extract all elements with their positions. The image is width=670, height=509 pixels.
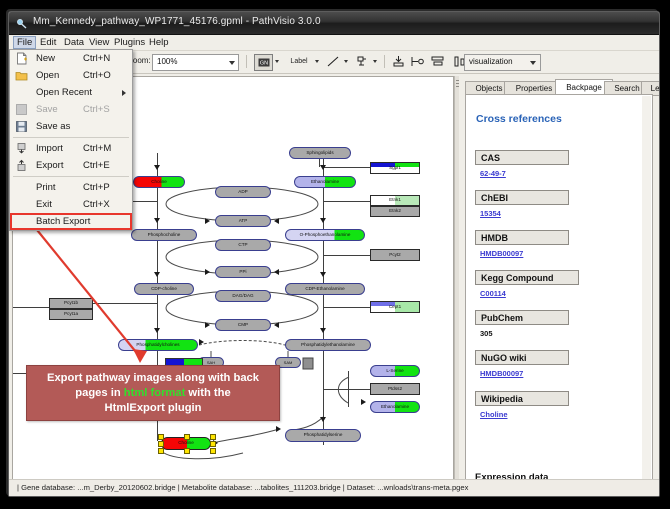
- menu-help[interactable]: Help: [145, 36, 173, 49]
- receptor-dropdown-icon[interactable]: [373, 60, 377, 63]
- file-dropdown-menu: New Ctrl+N Open Ctrl+O Open Recent Save …: [9, 49, 133, 231]
- xref-header-pubchem: PubChem: [475, 310, 569, 325]
- datanode-button[interactable]: GN: [254, 54, 273, 71]
- save-disk-icon: [15, 103, 28, 116]
- callout-line2-b: with the: [185, 387, 230, 399]
- window-title: Mm_Kennedy_pathway_WP1771_45176.gpml - P…: [33, 16, 321, 27]
- pathvisio-window: Mm_Kennedy_pathway_WP1771_45176.gpml - P…: [8, 11, 660, 497]
- menu-label: Save as: [36, 121, 70, 132]
- callout-line2-a: pages in: [75, 387, 124, 399]
- menu-label: Batch Export: [36, 216, 90, 227]
- resize-handle-e[interactable]: [210, 441, 216, 447]
- xref-value-kegg[interactable]: C00114: [480, 289, 506, 298]
- xref-value-chebi[interactable]: 15354: [480, 209, 501, 218]
- menu-item-print[interactable]: Print Ctrl+P: [10, 179, 132, 196]
- menu-accel: Ctrl+P: [83, 182, 110, 193]
- menu-item-open[interactable]: Open Ctrl+O: [10, 67, 132, 84]
- menu-accel: Ctrl+X: [83, 199, 110, 210]
- label-dropdown-icon[interactable]: [315, 60, 319, 63]
- xref-value-nugo[interactable]: HMDB00097: [480, 369, 523, 378]
- align-rows-button[interactable]: [430, 54, 445, 69]
- menu-item-save[interactable]: Save Ctrl+S: [10, 101, 132, 118]
- menu-label: Export: [36, 160, 63, 171]
- toolbar-separator-2: [384, 55, 385, 68]
- datanode-dropdown-icon[interactable]: [275, 60, 279, 63]
- backpage-vscrollbar[interactable]: [642, 96, 651, 490]
- resize-handle-n[interactable]: [184, 434, 190, 440]
- xref-value-pubchem: 305: [480, 329, 493, 338]
- menu-label: Open Recent: [36, 87, 92, 98]
- menu-accel: Ctrl+O: [83, 70, 111, 81]
- menu-divider-2: [13, 176, 129, 177]
- resize-handle-ne[interactable]: [210, 434, 216, 440]
- side-panel: Objects Properties Backpage Search Legen…: [459, 76, 656, 495]
- menu-item-new[interactable]: New Ctrl+N: [10, 50, 132, 67]
- callout-line1: Export pathway images along with back: [47, 372, 259, 384]
- xref-value-cas[interactable]: 62-49-7: [480, 169, 506, 178]
- menu-file[interactable]: File: [13, 36, 36, 49]
- xref-header-hmdb: HMDB: [475, 230, 569, 245]
- xref-header-cas: CAS: [475, 150, 569, 165]
- submenu-arrow-icon: [122, 90, 126, 96]
- xref-header-wikipedia: Wikipedia: [475, 391, 569, 406]
- menu-label: Open: [36, 70, 59, 81]
- status-text: | Gene database: ...m_Derby_20120602.bri…: [17, 483, 468, 492]
- align-left-button[interactable]: [409, 54, 425, 69]
- resize-handle-w[interactable]: [158, 441, 164, 447]
- toolbar-separator: [246, 55, 247, 68]
- pathvisio-icon: [16, 17, 28, 29]
- resize-handle-nw[interactable]: [158, 434, 164, 440]
- label-button[interactable]: Label: [286, 54, 312, 69]
- title-bar: Mm_Kennedy_pathway_WP1771_45176.gpml - P…: [9, 12, 659, 35]
- align-top-button[interactable]: [391, 54, 405, 69]
- cross-references-heading: Cross references: [476, 113, 562, 125]
- xref-header-nugo: NuGO wiki: [475, 350, 569, 365]
- callout-text: Export pathway images along with back pa…: [41, 371, 265, 416]
- menu-edit[interactable]: Edit: [36, 36, 60, 49]
- menu-item-import[interactable]: Import Ctrl+M: [10, 140, 132, 157]
- menu-label: Save: [36, 104, 58, 115]
- annotation-callout: Export pathway images along with back pa…: [26, 365, 280, 421]
- menu-label: New: [36, 53, 55, 64]
- open-folder-icon: [15, 69, 28, 82]
- line-button[interactable]: [326, 54, 340, 69]
- callout-line3: HtmlExport plugin: [105, 402, 202, 414]
- receptor-button[interactable]: [355, 54, 369, 69]
- desktop-background: Mm_Kennedy_pathway_WP1771_45176.gpml - P…: [0, 0, 670, 509]
- export-icon: [15, 159, 28, 172]
- svg-text:GN: GN: [259, 61, 267, 67]
- menu-accel: Ctrl+S: [83, 104, 110, 115]
- node-choline-bottom-selected[interactable]: Choline: [161, 437, 211, 450]
- new-document-icon: [15, 52, 28, 65]
- menu-plugins[interactable]: Plugins: [110, 36, 149, 49]
- visualization-value: visualization: [469, 57, 513, 66]
- xref-header-chebi: ChEBI: [475, 190, 569, 205]
- xref-value-wikipedia[interactable]: Choline: [480, 410, 508, 419]
- xref-value-hmdb[interactable]: HMDB00097: [480, 249, 523, 258]
- menu-divider-1: [13, 137, 129, 138]
- menu-item-export[interactable]: Export Ctrl+E: [10, 157, 132, 174]
- resize-handle-s[interactable]: [184, 448, 190, 454]
- menu-item-exit[interactable]: Exit Ctrl+X: [10, 196, 132, 213]
- zoom-combobox[interactable]: 100%: [152, 54, 239, 71]
- zoom-value: 100%: [157, 57, 177, 66]
- menu-item-open-recent[interactable]: Open Recent: [10, 84, 132, 101]
- node-label: Choline: [178, 441, 194, 446]
- save-as-disk-icon: [15, 120, 28, 133]
- chevron-down-icon-2: [530, 61, 536, 65]
- backpage-content: Cross references CAS 62-49-7 ChEBI 15354…: [465, 94, 653, 492]
- menu-label: Exit: [36, 199, 52, 210]
- menu-label: Print: [36, 182, 56, 193]
- visualization-combobox[interactable]: visualization: [464, 54, 541, 71]
- menu-item-batch-export[interactable]: Batch Export: [10, 213, 132, 230]
- menu-accel: Ctrl+E: [83, 160, 110, 171]
- chevron-down-icon: [229, 61, 235, 65]
- menu-data[interactable]: Data: [60, 36, 88, 49]
- menu-item-save-as[interactable]: Save as: [10, 118, 132, 135]
- xref-header-kegg: Kegg Compound: [475, 270, 579, 285]
- menu-accel: Ctrl+N: [83, 53, 110, 64]
- menu-label: Import: [36, 143, 63, 154]
- import-icon: [15, 142, 28, 155]
- resize-handle-sw[interactable]: [158, 448, 164, 454]
- callout-highlight: html format: [124, 387, 186, 399]
- line-dropdown-icon[interactable]: [344, 60, 348, 63]
- status-bar: | Gene database: ...m_Derby_20120602.bri…: [9, 479, 659, 496]
- resize-handle-se[interactable]: [210, 448, 216, 454]
- menu-accel: Ctrl+M: [83, 143, 111, 154]
